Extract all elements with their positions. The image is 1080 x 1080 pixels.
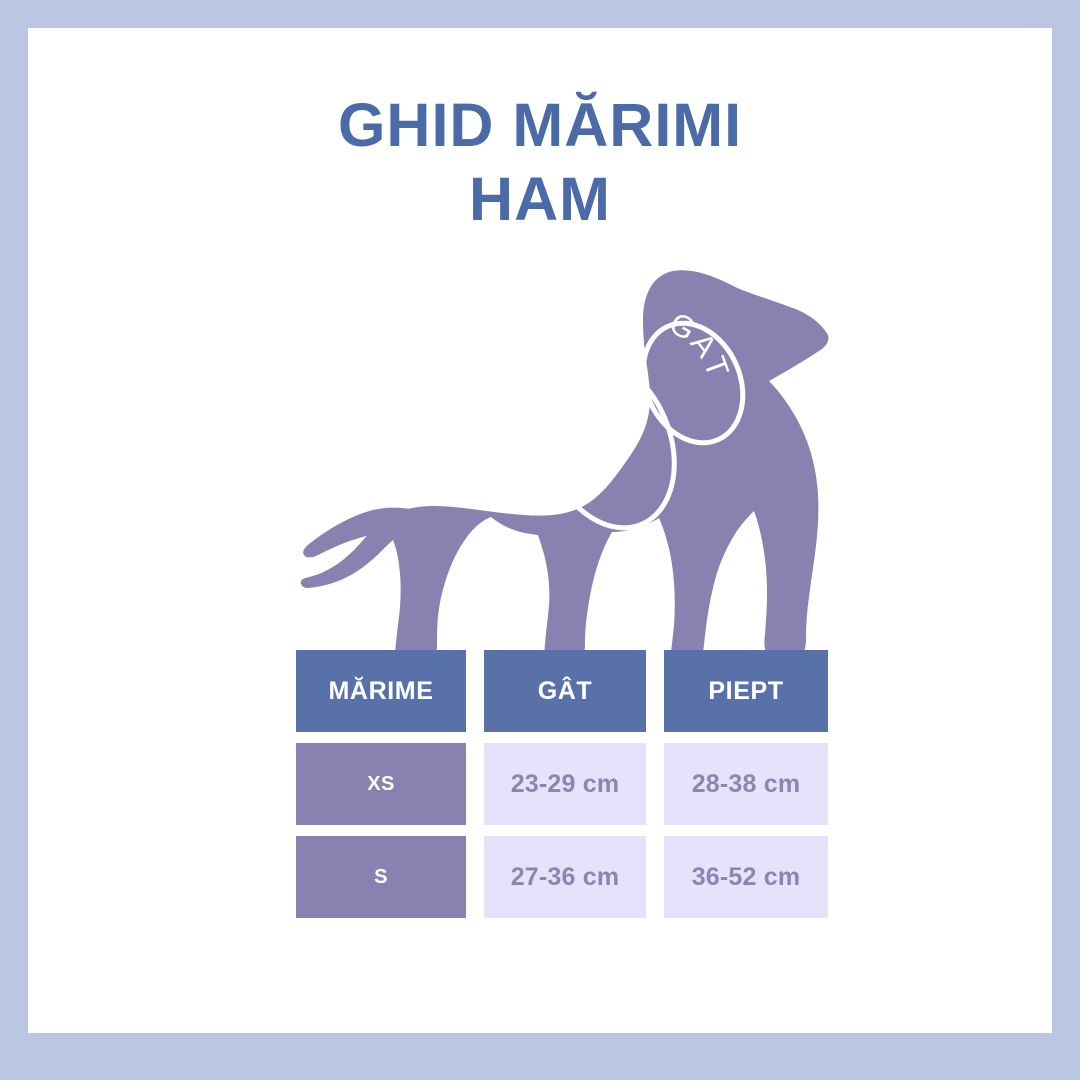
chest-ring-label: PIEPT: [557, 382, 611, 482]
table-row: XS 23-29 cm 28-38 cm: [296, 743, 852, 825]
dog-body-shape: [301, 270, 829, 663]
row-chest-value: 36-52 cm: [664, 836, 828, 918]
table-header-row: MĂRIME GÂT PIEPT: [296, 650, 852, 732]
row-chest-value: 28-38 cm: [664, 743, 828, 825]
dog-silhouette-illustration: GÂT PIEPT: [290, 263, 850, 663]
page-title-line-1: GHID MĂRIMI: [28, 88, 1052, 162]
row-neck-value: 23-29 cm: [484, 743, 646, 825]
row-size-label: S: [296, 836, 466, 918]
size-guide-page: GHID MĂRIMI HAM: [0, 0, 1080, 1080]
size-table: MĂRIME GÂT PIEPT XS 23-29 cm 28-38 cm S …: [296, 650, 852, 929]
column-header-size: MĂRIME: [296, 650, 466, 732]
column-header-neck: GÂT: [484, 650, 646, 732]
row-neck-value: 27-36 cm: [484, 836, 646, 918]
svg-text:PIEPT: PIEPT: [557, 382, 611, 482]
page-title-line-2: HAM: [28, 162, 1052, 236]
content-card: GHID MĂRIMI HAM: [28, 28, 1052, 1033]
column-header-chest: PIEPT: [664, 650, 828, 732]
row-size-label: XS: [296, 743, 466, 825]
table-row: S 27-36 cm 36-52 cm: [296, 836, 852, 918]
page-title: GHID MĂRIMI HAM: [28, 88, 1052, 236]
